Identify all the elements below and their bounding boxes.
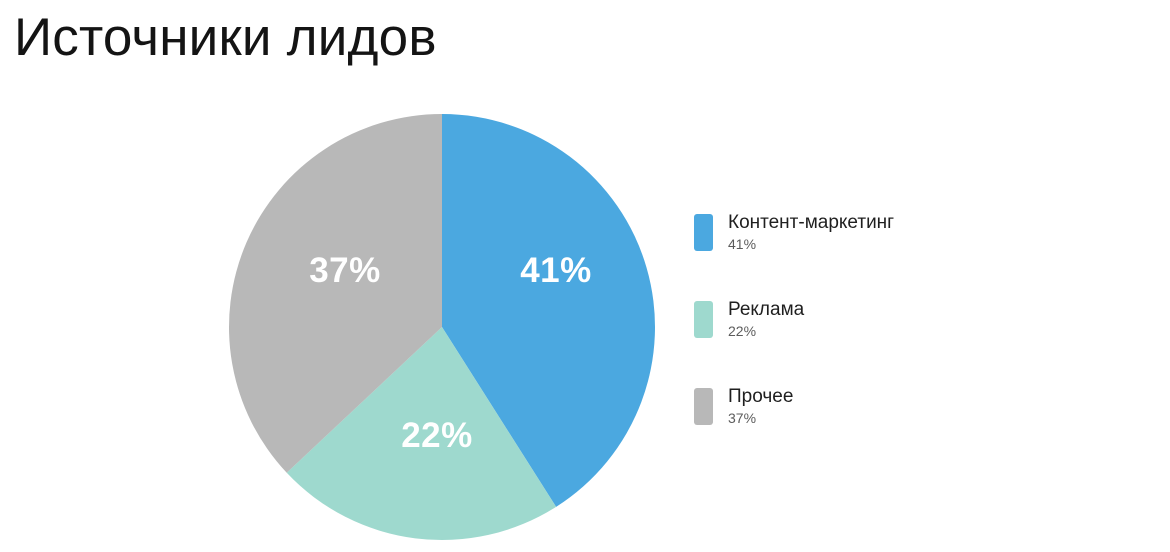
legend-label: Контент-маркетинг (728, 212, 894, 233)
legend-text-group: Контент-маркетинг 41% (728, 210, 894, 254)
pie-chart: 41% 22% 37% Контент-маркетинг 41% Реклам… (0, 0, 1170, 552)
legend-item-content-marketing[interactable]: Контент-маркетинг 41% (694, 213, 994, 253)
legend-value: 41% (728, 236, 756, 252)
legend-text-group: Реклама 22% (728, 297, 804, 341)
legend-item-advertising[interactable]: Реклама 22% (694, 300, 994, 340)
legend-swatch-icon (694, 214, 713, 251)
legend-label: Прочее (728, 386, 793, 407)
legend-value: 22% (728, 323, 756, 339)
slide-canvas: Источники лидов 41% 22% 37% Контент-марк… (0, 0, 1170, 552)
legend-swatch-icon (694, 388, 713, 425)
legend-label: Реклама (728, 299, 804, 320)
legend-item-other[interactable]: Прочее 37% (694, 387, 994, 427)
pie-svg (229, 114, 655, 540)
legend-value: 37% (728, 410, 756, 426)
legend-text-group: Прочее 37% (728, 384, 793, 428)
chart-legend: Контент-маркетинг 41% Реклама 22% Прочее… (694, 213, 994, 474)
legend-swatch-icon (694, 301, 713, 338)
